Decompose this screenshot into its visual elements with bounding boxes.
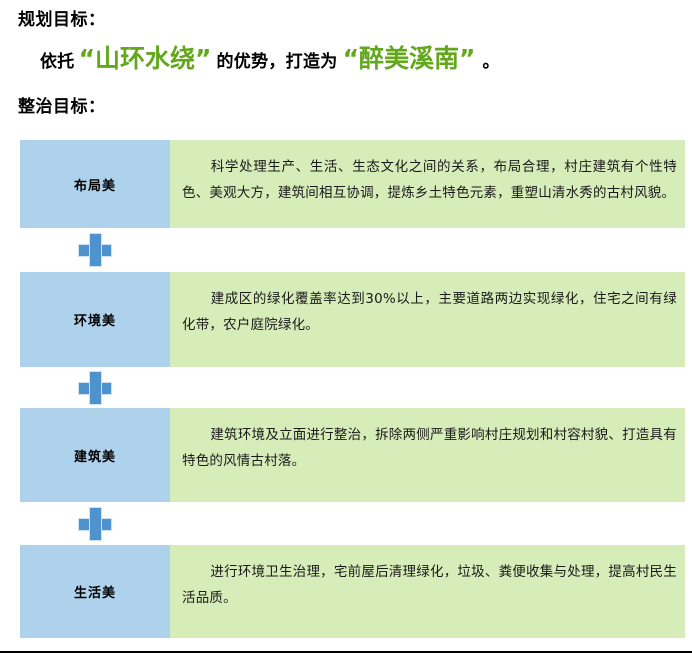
goal-description-text: 进行环境卫生治理，宅前屋后清理绿化，垃圾、粪便收集与处理，提高村民生活品质。: [182, 564, 677, 606]
goal-label-cell: 生活美: [20, 545, 170, 638]
remediation-goal-heading: 整治目标：: [18, 97, 106, 117]
planning-goal-heading: 规划目标：: [18, 10, 106, 30]
goal-label-cell: 布局美: [20, 140, 170, 228]
goal-description-text: 建筑环境及立面进行整治，拆除两侧严重影响村庄规划和村容村貌、打造具有特色的风情古…: [182, 427, 677, 469]
row-connector: [20, 228, 685, 272]
plus-icon-vertical-bar: [89, 507, 102, 541]
slogan-accent-secondary: “醉美溪南”: [343, 44, 476, 73]
goal-description-cell: 建成区的绿化覆盖率达到30%以上，主要道路两边实现绿化，住宅之间有绿化带，农户庭…: [170, 272, 685, 367]
slogan-lead: 依托: [40, 52, 79, 72]
plus-icon-wrapper: [20, 233, 170, 267]
table-row: 生活美 进行环境卫生治理，宅前屋后清理绿化，垃圾、粪便收集与处理，提高村民生活品…: [20, 545, 685, 638]
goal-description-cell: 建筑环境及立面进行整治，拆除两侧严重影响村庄规划和村容村貌、打造具有特色的风情古…: [170, 408, 685, 502]
plus-icon-wrapper: [20, 507, 170, 541]
plus-icon: [78, 233, 112, 267]
plus-icon-vertical-bar: [89, 233, 102, 267]
plus-icon: [78, 507, 112, 541]
slogan-accent-primary: “山环水绕”: [79, 44, 212, 73]
slogan-middle: 的优势，打造为: [211, 52, 342, 72]
plus-icon-wrapper: [20, 371, 170, 405]
slogan-tail: 。: [475, 52, 499, 72]
goal-label-cell: 建筑美: [20, 408, 170, 502]
goal-label-cell: 环境美: [20, 272, 170, 367]
goal-description-cell: 科学处理生产、生活、生态文化之间的关系，布局合理，村庄建筑有个性特色、美观大方，…: [170, 140, 685, 228]
goal-description-text: 建成区的绿化覆盖率达到30%以上，主要道路两边实现绿化，住宅之间有绿化带，农户庭…: [182, 291, 677, 333]
table-row: 建筑美 建筑环境及立面进行整治，拆除两侧严重影响村庄规划和村容村貌、打造具有特色…: [20, 408, 685, 502]
row-connector: [20, 502, 685, 545]
goals-table: 布局美 科学处理生产、生活、生态文化之间的关系，布局合理，村庄建筑有个性特色、美…: [20, 140, 685, 638]
plus-icon-vertical-bar: [89, 371, 102, 405]
document-page: 规划目标： 依托“山环水绕”的优势，打造为“醉美溪南”。 整治目标： 布局美 科…: [0, 0, 692, 653]
slogan-line: 依托“山环水绕”的优势，打造为“醉美溪南”。: [40, 44, 500, 74]
goal-description-text: 科学处理生产、生活、生态文化之间的关系，布局合理，村庄建筑有个性特色、美观大方，…: [182, 159, 677, 201]
table-row: 布局美 科学处理生产、生活、生态文化之间的关系，布局合理，村庄建筑有个性特色、美…: [20, 140, 685, 228]
table-row: 环境美 建成区的绿化覆盖率达到30%以上，主要道路两边实现绿化，住宅之间有绿化带…: [20, 272, 685, 367]
row-connector: [20, 367, 685, 408]
goal-description-cell: 进行环境卫生治理，宅前屋后清理绿化，垃圾、粪便收集与处理，提高村民生活品质。: [170, 545, 685, 638]
plus-icon: [78, 371, 112, 405]
